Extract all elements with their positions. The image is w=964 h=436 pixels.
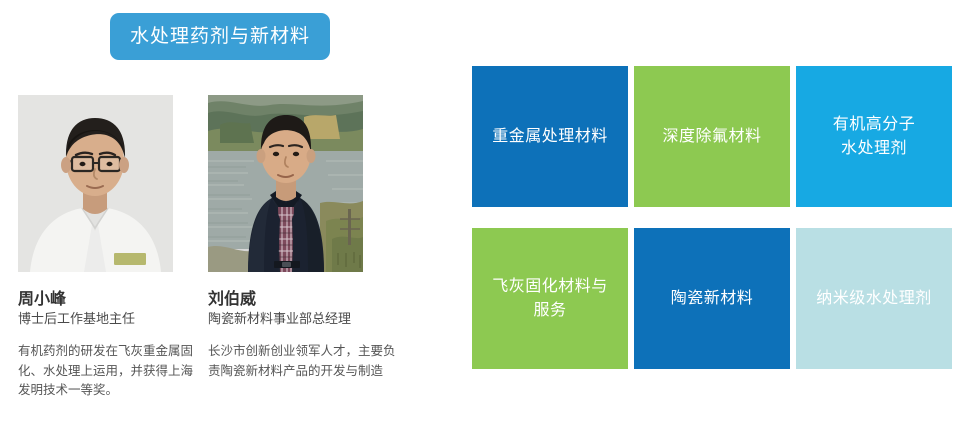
person-card: 周小峰 博士后工作基地主任 有机药剂的研发在飞灰重金属固化、水处理上运用，并获得… bbox=[18, 95, 173, 401]
tile-nano-grade-water-treatment-agent[interactable]: 纳米级水处理剂 bbox=[796, 228, 952, 369]
tile-fly-ash-solidification-material-and-service[interactable]: 飞灰固化材料与服务 bbox=[472, 228, 628, 369]
person-role: 博士后工作基地主任 bbox=[18, 311, 173, 328]
tile-label: 陶瓷新材料 bbox=[671, 287, 754, 310]
portrait-man-dark-jacket-outdoors-icon bbox=[208, 95, 363, 272]
tile-organic-polymer-water-treatment-agent[interactable]: 有机高分子水处理剂 bbox=[796, 66, 952, 207]
person-name: 周小峰 bbox=[18, 290, 173, 310]
section-title-badge: 水处理药剂与新材料 bbox=[110, 13, 330, 60]
person-card: 刘伯威 陶瓷新材料事业部总经理 长沙市创新创业领军人才，主要负责陶瓷新材料产品的… bbox=[208, 95, 363, 381]
tile-label: 纳米级水处理剂 bbox=[816, 287, 932, 310]
person-bio: 有机药剂的研发在飞灰重金属固化、水处理上运用，并获得上海发明技术一等奖。 bbox=[18, 342, 196, 401]
portrait-man-white-shirt-glasses-icon bbox=[18, 95, 173, 272]
product-category-grid: 重金属处理材料 深度除氟材料 有机高分子水处理剂 飞灰固化材料与服务 陶瓷新材料… bbox=[472, 66, 953, 370]
person-name: 刘伯威 bbox=[208, 290, 363, 310]
tile-heavy-metal-treatment-material[interactable]: 重金属处理材料 bbox=[472, 66, 628, 207]
person-photo bbox=[208, 95, 363, 272]
tile-label: 重金属处理材料 bbox=[492, 125, 608, 148]
person-photo bbox=[18, 95, 173, 272]
tile-label: 深度除氟材料 bbox=[662, 125, 761, 148]
tile-deep-fluorine-removal-material[interactable]: 深度除氟材料 bbox=[634, 66, 790, 207]
person-bio: 长沙市创新创业领军人才，主要负责陶瓷新材料产品的开发与制造 bbox=[208, 342, 398, 382]
tile-ceramic-new-material[interactable]: 陶瓷新材料 bbox=[634, 228, 790, 369]
section-title-text: 水处理药剂与新材料 bbox=[130, 27, 310, 46]
person-role: 陶瓷新材料事业部总经理 bbox=[208, 311, 363, 328]
tile-label: 飞灰固化材料与服务 bbox=[492, 275, 608, 321]
tile-label: 有机高分子水处理剂 bbox=[833, 113, 916, 159]
